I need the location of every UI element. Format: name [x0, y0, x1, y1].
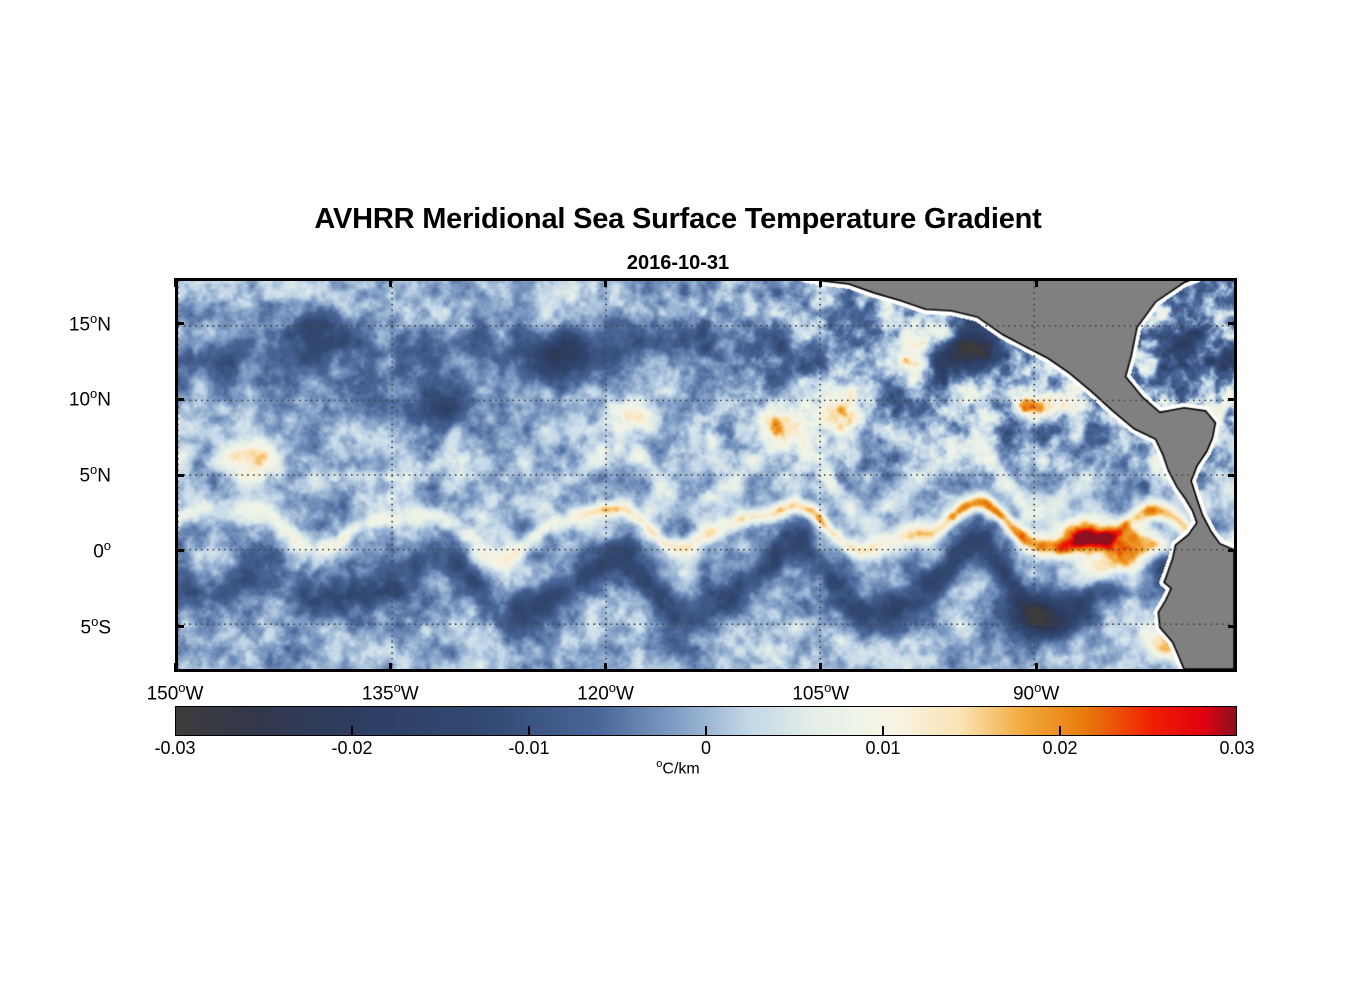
colorbar-unit-label: oC/km [0, 758, 1356, 778]
colorbar-tick-2 [528, 726, 530, 736]
xtick-top-0 [174, 278, 177, 287]
degree-sign: o [656, 758, 662, 770]
xtick-label-0: 150oW [95, 680, 255, 705]
colorbar-tick-4 [882, 726, 884, 736]
xtick-top-3 [819, 278, 822, 287]
xtick-bottom-4 [1035, 663, 1038, 672]
xtick-top-1 [389, 278, 392, 287]
xtick-top-4 [1035, 278, 1038, 287]
ytick-label-2: 5oN [0, 462, 111, 487]
xtick-label-1: 135oW [310, 680, 470, 705]
map-axes[interactable] [175, 278, 1237, 672]
ytick-left-4 [175, 625, 184, 628]
ytick-label-0: 15oN [0, 311, 111, 336]
colorbar-tick-5 [1059, 726, 1061, 736]
colorbar-label-0: -0.03 [115, 738, 235, 759]
colorbar-label-2: -0.01 [469, 738, 589, 759]
colorbar-tick-1 [351, 726, 353, 736]
xtick-bottom-1 [389, 663, 392, 672]
ytick-right-1 [1228, 398, 1237, 401]
xtick-bottom-2 [604, 663, 607, 672]
colorbar[interactable] [175, 706, 1237, 736]
colorbar-tick-3 [705, 726, 707, 736]
ytick-label-4: 5oS [0, 614, 111, 639]
ytick-left-0 [175, 322, 184, 325]
ytick-left-1 [175, 398, 184, 401]
colorbar-label-1: -0.02 [292, 738, 412, 759]
colorbar-label-5: 0.02 [1000, 738, 1120, 759]
xtick-label-2: 120oW [526, 680, 686, 705]
colorbar-label-4: 0.01 [823, 738, 943, 759]
colorbar-label-3: 0 [646, 738, 766, 759]
ytick-right-2 [1228, 474, 1237, 477]
sst-gradient-heatmap [178, 281, 1234, 669]
xtick-bottom-0 [174, 663, 177, 672]
ytick-right-3 [1228, 549, 1237, 552]
xtick-top-2 [604, 278, 607, 287]
xtick-bottom-3 [819, 663, 822, 672]
ytick-left-3 [175, 549, 184, 552]
ytick-label-3: 0o [0, 538, 111, 563]
ytick-right-0 [1228, 322, 1237, 325]
figure-canvas: AVHRR Meridional Sea Surface Temperature… [0, 0, 1356, 1000]
ytick-right-4 [1228, 625, 1237, 628]
chart-subtitle-date: 2016-10-31 [0, 252, 1356, 275]
ytick-left-2 [175, 474, 184, 477]
ytick-label-1: 10oN [0, 386, 111, 411]
page-title: AVHRR Meridional Sea Surface Temperature… [0, 203, 1356, 236]
xtick-label-3: 105oW [741, 680, 901, 705]
colorbar-label-6: 0.03 [1177, 738, 1297, 759]
xtick-label-4: 90oW [956, 680, 1116, 705]
